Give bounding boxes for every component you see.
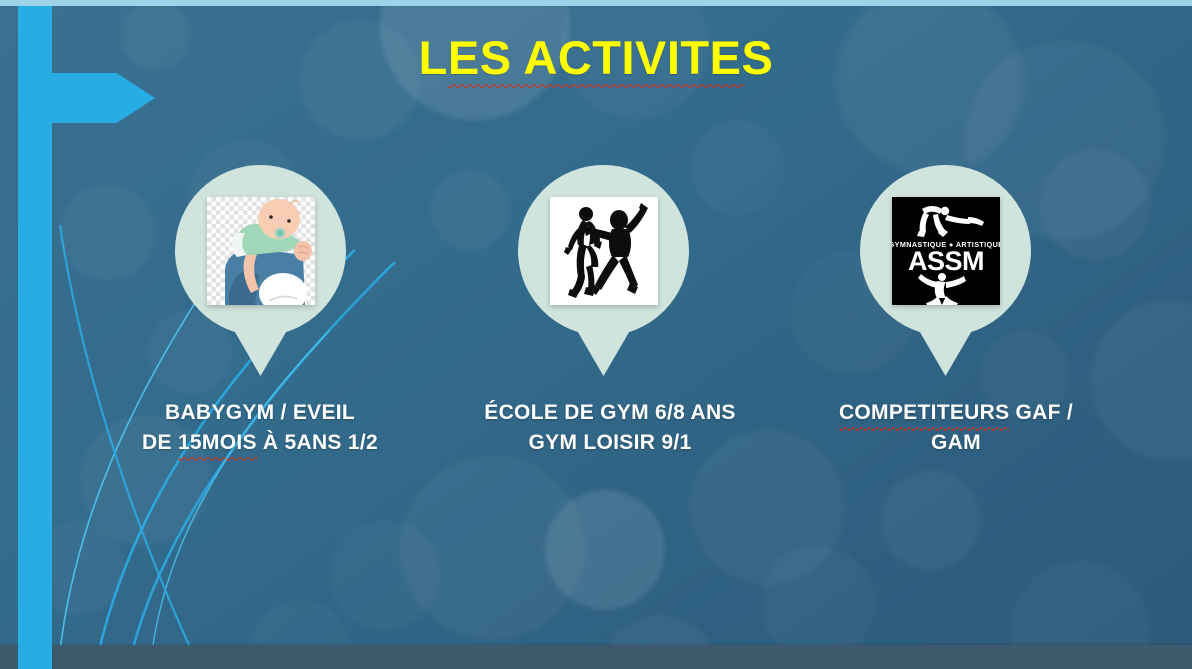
activity-pin-ecole-de-gym[interactable] bbox=[518, 165, 689, 376]
caption-text-after: À 5ANS 1/2 bbox=[257, 431, 378, 454]
misspelled-word: 15MOIS bbox=[178, 428, 257, 458]
caption-text-before: DE bbox=[142, 431, 178, 454]
top-border-rule bbox=[0, 0, 1192, 6]
misspelled-word: COMPETITEURS bbox=[839, 398, 1009, 428]
caption-line-2: GAM bbox=[800, 428, 1112, 458]
logo-main-text: ASSM bbox=[907, 246, 983, 276]
misspelled-word-text: COMPETITEURS bbox=[839, 401, 1009, 424]
pin-shape bbox=[175, 165, 346, 376]
bokeh-circle bbox=[1040, 150, 1150, 260]
baby-illustration-image bbox=[207, 197, 315, 305]
page-title: LES ACTIVITES bbox=[0, 33, 1192, 84]
misspelled-word-text: 15MOIS bbox=[178, 431, 257, 454]
caption-text-after: GAF / bbox=[1009, 401, 1073, 424]
assm-club-logo-art: GYMNASTIQUE ● ARTISTIQUE ASSM bbox=[892, 197, 1000, 305]
spellcheck-squiggle bbox=[448, 84, 744, 88]
pin-shape: GYMNASTIQUE ● ARTISTIQUE ASSM bbox=[860, 165, 1031, 376]
gymnast-silhouettes-image bbox=[550, 197, 658, 305]
baby-illustration-art bbox=[207, 197, 315, 305]
gymnast-silhouettes-art bbox=[550, 197, 658, 305]
bokeh-circle bbox=[690, 120, 785, 215]
assm-club-logo-image: GYMNASTIQUE ● ARTISTIQUE ASSM bbox=[892, 197, 1000, 305]
activity-pin-competiteurs[interactable]: GYMNASTIQUE ● ARTISTIQUE ASSM bbox=[860, 165, 1031, 376]
bottom-band bbox=[0, 645, 1192, 669]
caption-line-2: GYM LOISIR 9/1 bbox=[430, 428, 790, 458]
bokeh-circle bbox=[60, 185, 155, 280]
caption-line-1: BABYGYM / EVEIL bbox=[60, 398, 460, 428]
caption-ecole-de-gym: ÉCOLE DE GYM 6/8 ANS GYM LOISIR 9/1 bbox=[430, 398, 790, 458]
bokeh-circle bbox=[880, 470, 980, 570]
bokeh-circle bbox=[330, 520, 440, 630]
caption-line-2: DE 15MOIS À 5ANS 1/2 bbox=[60, 428, 460, 458]
pin-shape bbox=[518, 165, 689, 376]
caption-competiteurs: COMPETITEURS GAF / GAM bbox=[800, 398, 1112, 458]
activity-pin-babygym[interactable] bbox=[175, 165, 346, 376]
spellcheck-squiggle bbox=[178, 457, 257, 461]
caption-line-1: COMPETITEURS GAF / bbox=[800, 398, 1112, 428]
caption-line-1: ÉCOLE DE GYM 6/8 ANS bbox=[430, 398, 790, 428]
page-title-text: LES ACTIVITES bbox=[419, 33, 774, 84]
slide-canvas: LES ACTIVITES bbox=[0, 0, 1192, 669]
bokeh-circle bbox=[430, 170, 510, 250]
caption-babygym: BABYGYM / EVEIL DE 15MOIS À 5ANS 1/2 bbox=[60, 398, 460, 458]
bokeh-circle bbox=[545, 490, 665, 610]
bokeh-circle bbox=[400, 455, 585, 640]
